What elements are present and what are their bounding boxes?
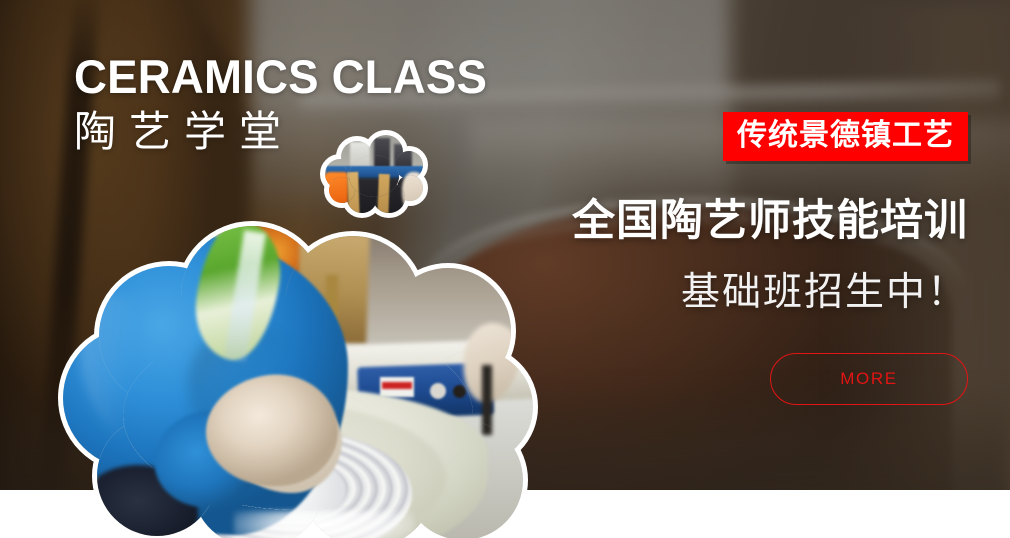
small-cloud-image <box>318 128 430 220</box>
big-cloud-photo <box>58 215 538 538</box>
page-title-chinese: 陶艺学堂 <box>74 108 500 156</box>
ceramics-class-banner: CERAMICS CLASS 陶艺学堂 <box>0 0 1010 538</box>
banner-right-content: 传统景德镇工艺 全国陶艺师技能培训 基础班招生中！ MORE <box>498 112 968 405</box>
status-badge: 传统景德镇工艺 <box>723 112 968 161</box>
page-title-english: CERAMICS CLASS <box>74 52 487 102</box>
banner-subline: 基础班招生中！ <box>498 271 968 315</box>
more-button[interactable]: MORE <box>770 353 968 405</box>
banner-headline: 全国陶艺师技能培训 <box>498 197 968 245</box>
banner-title-block: CERAMICS CLASS 陶艺学堂 <box>74 52 500 156</box>
more-button-row: MORE <box>498 353 968 405</box>
big-cloud-image <box>58 215 538 538</box>
small-cloud-photo <box>318 128 430 220</box>
